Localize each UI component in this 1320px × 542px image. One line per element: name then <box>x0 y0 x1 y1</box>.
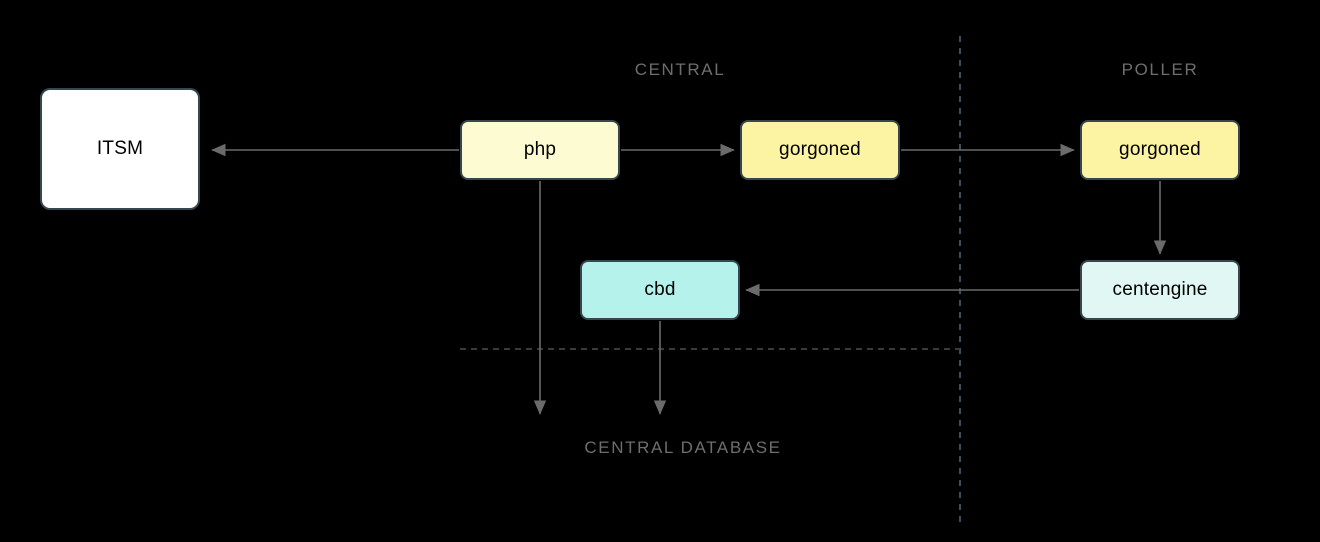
zone-label-poller: POLLER <box>1122 60 1199 80</box>
node-itsm[interactable]: ITSM <box>40 88 200 210</box>
database-divider-horizontal <box>460 348 960 350</box>
node-label-php: php <box>524 139 556 161</box>
node-gorgoned-poller[interactable]: gorgoned <box>1080 120 1240 180</box>
diagram-canvas: CENTRAL POLLER CENTRAL DATABASE ITSM php… <box>0 0 1320 542</box>
node-label-itsm: ITSM <box>97 138 143 160</box>
node-cbd[interactable]: cbd <box>580 260 740 320</box>
node-gorgoned-central[interactable]: gorgoned <box>740 120 900 180</box>
node-label-cbd: cbd <box>644 279 675 301</box>
node-label-gorgoned-poller: gorgoned <box>1119 139 1201 161</box>
footer-label-central-database: CENTRAL DATABASE <box>584 438 781 458</box>
node-label-gorgoned-central: gorgoned <box>779 139 861 161</box>
node-label-centengine: centengine <box>1113 279 1208 301</box>
node-centengine[interactable]: centengine <box>1080 260 1240 320</box>
zone-label-central: CENTRAL <box>635 60 726 80</box>
zone-divider-vertical <box>959 36 961 522</box>
node-php[interactable]: php <box>460 120 620 180</box>
